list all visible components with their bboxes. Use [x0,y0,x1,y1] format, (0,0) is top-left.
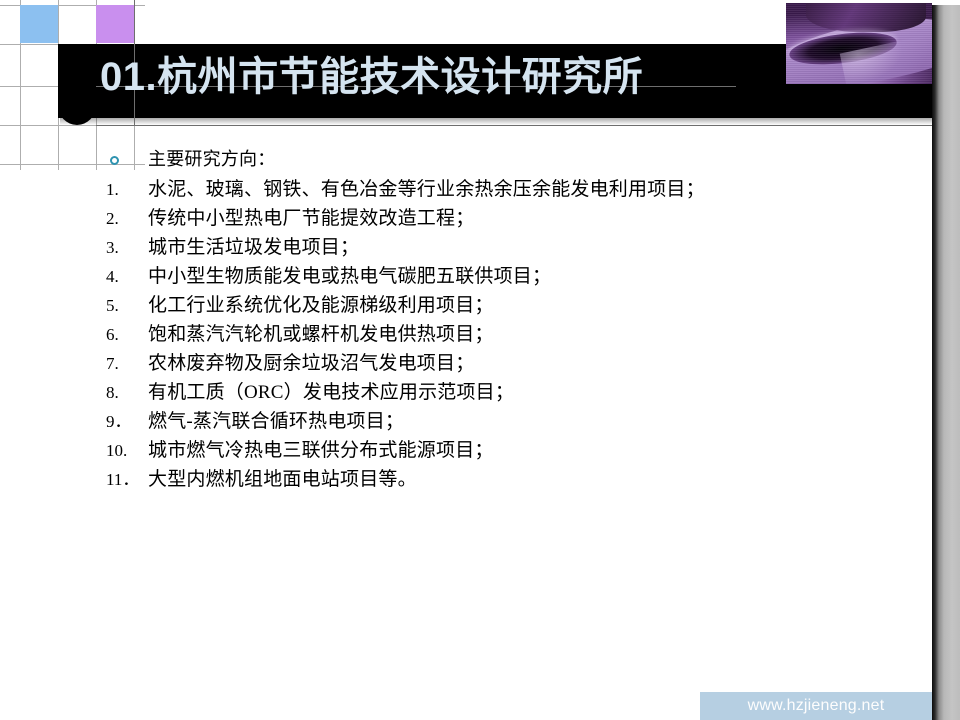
list-item-marker: 5. [106,296,148,316]
page-title-label: 杭州市节能技术设计研究所 [157,54,643,99]
list-item-label: 饱和蒸汽汽轮机或螺杆机发电供热项目； [148,319,886,346]
list-item: 4. 中小型生物质能发电或热电气碳肥五联供项目； [106,261,886,290]
list-item-marker: 8. [106,383,148,403]
decor-square-blue [20,5,58,43]
footer-website-bar: www.hzjieneng.net [700,692,932,720]
list-item-marker: 2. [106,209,148,229]
list-item-marker: 1. [106,180,148,200]
page-edge-shadow [932,0,960,720]
list-item-label: 城市生活垃圾发电项目； [148,232,886,259]
footer-website-label: www.hzjieneng.net [700,692,932,720]
list-item-label: 农林废弃物及厨余垃圾沼气发电项目； [148,348,886,375]
list-item-marker: 6. [106,325,148,345]
list-item-label: 传统中小型热电厂节能提效改造工程； [148,203,886,230]
page-title-number: 01. [100,55,157,99]
list-item: 5. 化工行业系统优化及能源梯级利用项目； [106,290,886,319]
list-item: 6. 饱和蒸汽汽轮机或螺杆机发电供热项目； [106,319,886,348]
list-item-label: 水泥、玻璃、钢铁、有色冶金等行业余热余压余能发电利用项目； [148,174,886,201]
list-item-label: 燃气-蒸汽联合循环热电项目； [148,406,886,433]
list-item: 8. 有机工质（ORC）发电技术应用示范项目； [106,377,886,406]
list-item-marker: 7. [106,354,148,374]
list-item-label: 有机工质（ORC）发电技术应用示范项目； [148,377,886,404]
list-item-label: 城市燃气冷热电三联供分布式能源项目； [148,435,886,462]
list-item-label: 化工行业系统优化及能源梯级利用项目； [148,290,886,317]
title-bar-shadow [60,118,937,125]
list-heading-label: 主要研究方向： [148,145,886,171]
list-item-marker: 11． [106,465,148,490]
grid-line-overlay-h2 [96,125,936,126]
page-title: 01.杭州市节能技术设计研究所 [100,57,643,97]
decor-square-purple [96,5,134,43]
ring-bullet-icon [106,146,148,175]
list-item: 10. 城市燃气冷热电三联供分布式能源项目； [106,435,886,464]
hero-image-top-gap [786,0,932,3]
list-item-label: 中小型生物质能发电或热电气碳肥五联供项目； [148,261,886,288]
list-item-marker: 3. [106,238,148,258]
decor-ellipse-black [58,86,96,125]
list-item-marker: 9． [106,407,148,432]
list-item-marker: 4. [106,267,148,287]
list-item: 3. 城市生活垃圾发电项目； [106,232,886,261]
list-item: 7. 农林废弃物及厨余垃圾沼气发电项目； [106,348,886,377]
list-item: 9． 燃气-蒸汽联合循环热电项目； [106,406,886,435]
list-item-marker: 10. [106,441,148,461]
list-item-label: 大型内燃机组地面电站项目等。 [148,464,886,491]
research-directions-list: 主要研究方向： 1. 水泥、玻璃、钢铁、有色冶金等行业余热余压余能发电利用项目；… [106,145,886,493]
list-item: 2. 传统中小型热电厂节能提效改造工程； [106,203,886,232]
list-item: 11． 大型内燃机组地面电站项目等。 [106,464,886,493]
slide-canvas: 01.杭州市节能技术设计研究所 主要研究方向： 1. 水泥、玻璃、钢铁、有色冶金… [0,0,960,720]
list-item: 1. 水泥、玻璃、钢铁、有色冶金等行业余热余压余能发电利用项目； [106,174,886,203]
purple-abstract-disc-image [786,0,932,84]
page-edge-top-gap [932,0,960,5]
list-heading-row: 主要研究方向： [106,145,886,174]
